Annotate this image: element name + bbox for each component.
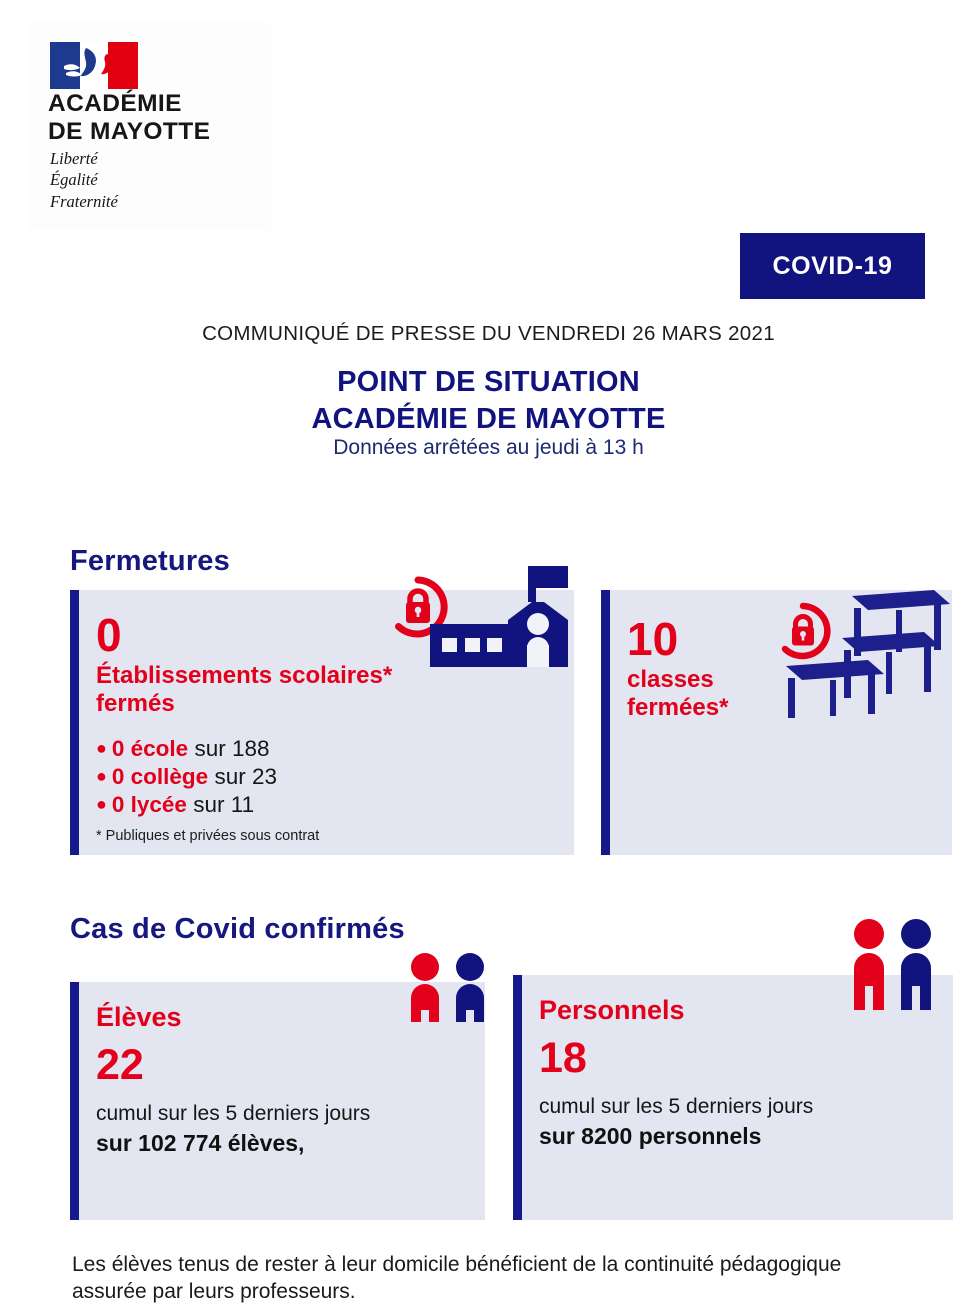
bullet-dot-icon: ● [96,766,107,786]
breakdown-count: 0 école [112,736,188,761]
desks-icon [784,586,950,718]
logo-title-line2: DE MAYOTTE [48,118,210,146]
logo-motto: Liberté Égalité Fraternité [50,148,118,212]
people-pair-icon [848,918,940,1030]
person-blue-icon [901,919,931,1010]
page-title-line2: ACADÉMIE DE MAYOTTE [0,401,977,438]
card-accent-bar [70,982,79,1220]
list-item: ●0 collège sur 23 [96,763,277,791]
card-accent-bar [601,590,610,855]
classes-label-line1: classes [627,666,728,694]
breakdown-count: 0 collège [112,764,208,789]
motto-liberte: Liberté [50,148,118,169]
bullet-dot-icon: ● [96,794,107,814]
etablissements-label-line1: Établissements scolaires* [96,662,456,690]
page-subtitle: Données arrêtées au jeudi à 13 h [0,436,977,460]
marianne-flag-icon [50,42,138,89]
classes-count: 10 [627,616,678,662]
person-red-icon [854,919,884,1010]
eleves-period-text: cumul sur les 5 derniers jours [96,1102,370,1126]
bullet-dot-icon: ● [96,738,107,758]
school-building-icon [424,562,584,672]
person-red-icon [411,953,439,1022]
eleves-count: 22 [96,1044,144,1087]
page-title-line1: POINT DE SITUATION [0,364,977,401]
section-heading-cas-covid: Cas de Covid confirmés [70,913,405,946]
footer-note: Les élèves tenus de rester à leur domici… [72,1251,872,1306]
personnels-count: 18 [539,1037,587,1080]
personnels-period-text: cumul sur les 5 derniers jours [539,1095,813,1119]
etablissements-count: 0 [96,612,122,658]
personnels-title: Personnels [539,995,685,1026]
press-release-line: COMMUNIQUÉ DE PRESSE DU VENDREDI 26 MARS… [0,322,977,346]
motto-egalite: Égalité [50,169,118,190]
list-item: ●0 école sur 188 [96,735,277,763]
card-accent-bar [513,975,522,1220]
breakdown-total: sur 188 [194,736,269,761]
logo-title: ACADÉMIE DE MAYOTTE [48,90,210,147]
eleves-title: Élèves [96,1002,182,1033]
covid-19-badge: COVID-19 [740,233,925,299]
etablissements-label: Établissements scolaires* fermés [96,662,456,718]
eleves-total-text: sur 102 774 élèves, [96,1130,304,1157]
classes-label: classes fermées* [627,666,728,722]
academy-logo-block: ACADÉMIE DE MAYOTTE Liberté Égalité Frat… [28,22,271,230]
breakdown-total: sur 23 [214,764,277,789]
etablissements-footnote: * Publiques et privées sous contrat [96,828,319,844]
breakdown-count: 0 lycée [112,792,187,817]
etablissements-label-line2: fermés [96,690,456,718]
card-accent-bar [70,590,79,855]
person-blue-icon [456,953,484,1022]
personnels-total-text: sur 8200 personnels [539,1123,761,1150]
etablissements-breakdown-list: ●0 école sur 188 ●0 collège sur 23 ●0 ly… [96,735,277,819]
classes-label-line2: fermées* [627,694,728,722]
section-heading-fermetures: Fermetures [70,545,230,578]
page-title: POINT DE SITUATION ACADÉMIE DE MAYOTTE [0,364,977,438]
people-pair-icon [404,952,496,1037]
motto-fraternite: Fraternité [50,191,118,212]
breakdown-total: sur 11 [193,792,254,817]
logo-title-line1: ACADÉMIE [48,90,210,118]
list-item: ●0 lycée sur 11 [96,791,277,819]
